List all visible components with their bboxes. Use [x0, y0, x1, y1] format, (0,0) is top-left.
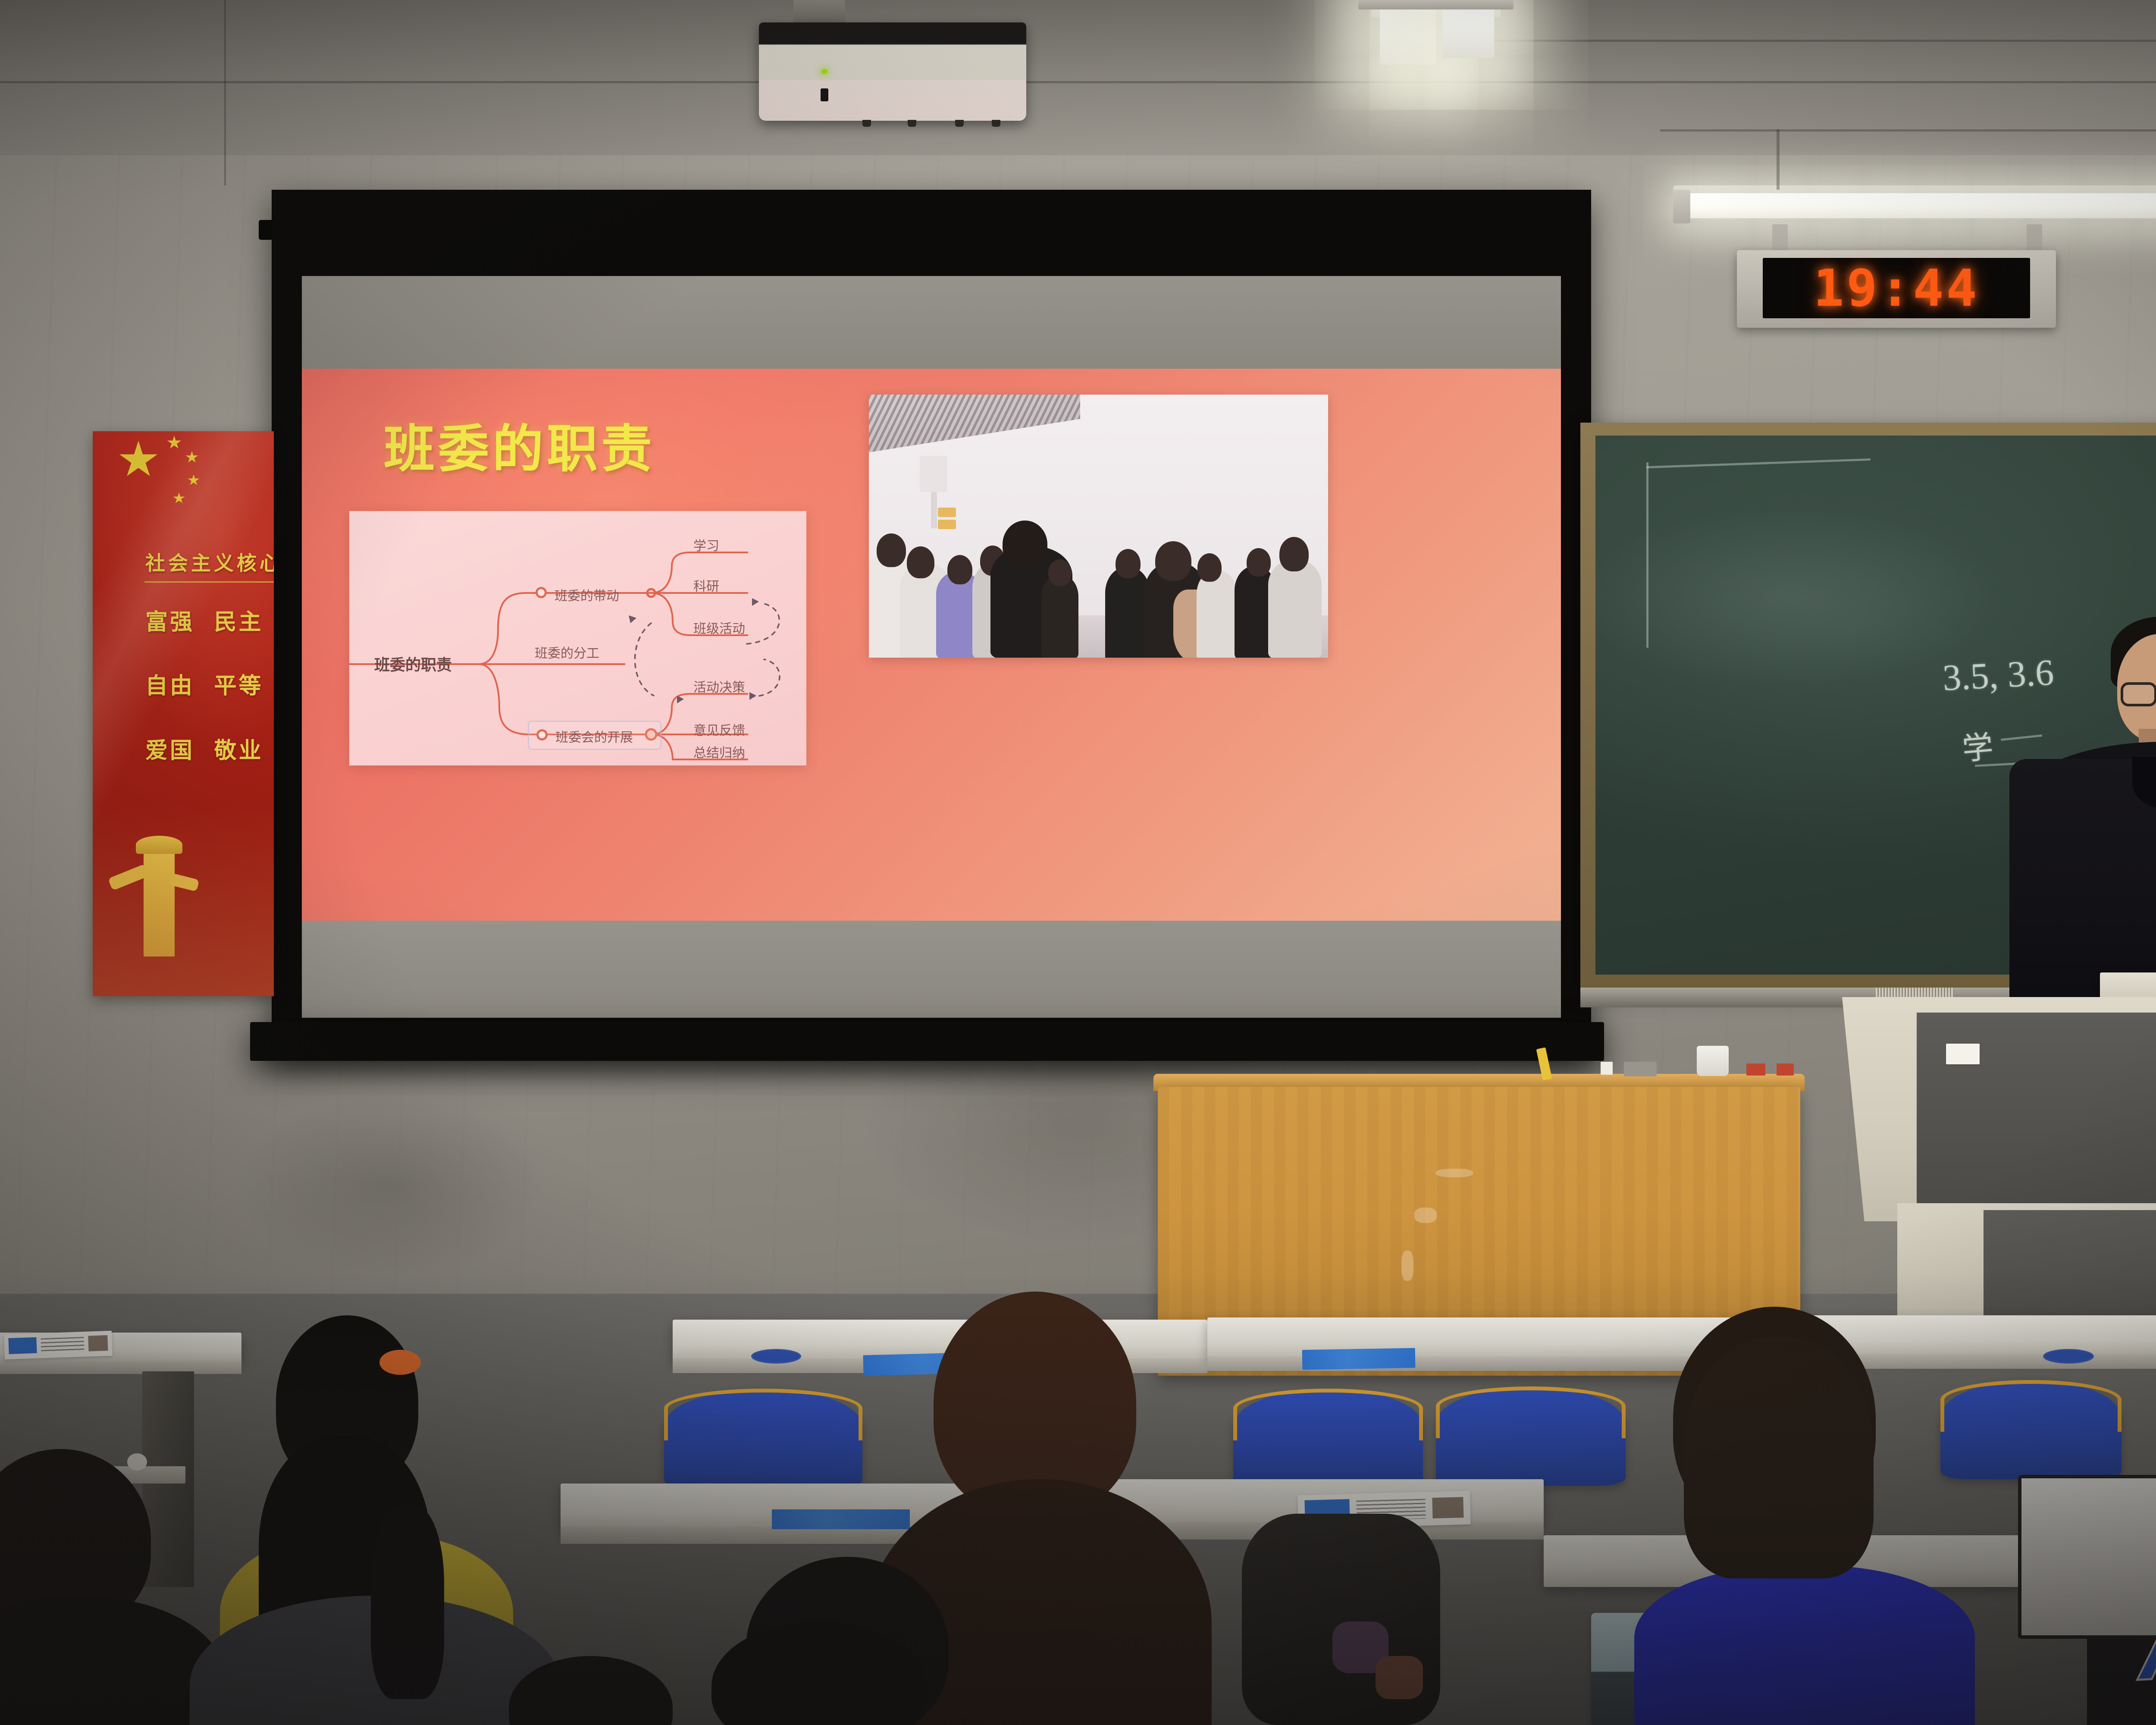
projection-screen-surface: 班委的职责: [302, 276, 1561, 1018]
photo-person-head: [1155, 541, 1191, 581]
flyer-text-lines: [41, 1337, 84, 1353]
mindmap-branch-label: 班委的带动: [555, 585, 619, 604]
desk-sticker-label: [772, 1509, 910, 1529]
wood-scuff: [1414, 1207, 1437, 1223]
photo-person: [1105, 567, 1150, 658]
screen-letterbox-top: [302, 276, 1561, 369]
mindmap-bullet-icon: [536, 729, 548, 740]
photo-wall-sign: [938, 520, 956, 529]
mindmap-leaf-label: 科研: [693, 576, 719, 595]
flyer-thumbnail: [1432, 1497, 1463, 1518]
projector: [759, 22, 1026, 121]
digital-clock-display: 19:44: [1763, 258, 2030, 318]
desk-sticker-oval: [751, 1349, 801, 1364]
photo-person-head: [947, 555, 972, 584]
photo-person-head: [1279, 537, 1309, 571]
projector-foot: [908, 120, 916, 127]
mindmap-panel: 班委的职责 班委的带动 班委的分工 班委会的开展 学习 科研 班级活动 活动决策…: [349, 511, 806, 765]
desk-sticker-label: [1302, 1348, 1416, 1370]
banner-value: 爱国: [145, 738, 194, 763]
light-fixture-endcap-left: [1673, 190, 1690, 223]
presentation-slide: 班委的职责: [302, 369, 1561, 921]
ceiling-seam: [1660, 129, 2156, 132]
banner-value: 富强: [145, 610, 194, 635]
wall-seam-vertical: [224, 0, 226, 185]
desk-flyer-left: [4, 1331, 113, 1360]
mindmap-bullet-icon: [536, 587, 547, 598]
photo-person-head: [877, 533, 906, 567]
ceiling-seam: [1466, 40, 2156, 42]
seat-trim: [1233, 1389, 1423, 1440]
projector-power-led-icon: [821, 69, 827, 74]
clock-time-text: 19:44: [1813, 258, 1979, 318]
red-marker: [1746, 1063, 1765, 1076]
mindmap-branch-label: 班委会的开展: [555, 727, 633, 746]
desk-row-middle-right: [1207, 1317, 1742, 1359]
wood-scuff: [1436, 1169, 1473, 1177]
fluorescent-tube-rear: [1684, 193, 2156, 218]
wood-scuff: [1401, 1251, 1413, 1281]
mindmap-leaf-label: 班级活动: [693, 618, 745, 637]
ceiling: [0, 0, 2156, 155]
screen-mount-tab: [259, 220, 273, 240]
banner-heading: 社会主义核心价值观: [145, 548, 274, 576]
banner-value: 平等: [214, 674, 263, 699]
classroom-scene: 班委的职责: [0, 0, 2156, 1725]
banner-value-row-2: 自由 平等: [145, 668, 263, 700]
backpack-patch: [1376, 1656, 1423, 1699]
banner-value-row-1: 富强 民主: [145, 604, 263, 636]
photo-perforated-ceiling: [869, 395, 1080, 452]
seat-trim: [1436, 1386, 1626, 1438]
photo-person-head: [1247, 548, 1271, 577]
mindmap-root-label: 班委的职责: [374, 652, 452, 675]
slide-title: 班委的职责: [384, 408, 655, 481]
banner-value: 敬业: [214, 738, 263, 763]
blackboard-eraser: [1624, 1062, 1657, 1076]
mindmap-leaf-label: 学习: [693, 535, 719, 554]
photo-person-head: [1116, 549, 1141, 578]
photo-person-head: [907, 546, 934, 578]
projector-ir-sensor-icon: [821, 88, 828, 101]
banner-divider: [144, 581, 274, 583]
ceiling-seam: [0, 81, 2156, 83]
photo-person: [1197, 571, 1237, 658]
chalk-stroke: [1646, 462, 1648, 648]
photo-person-head: [1197, 553, 1222, 582]
presenter-glasses-icon: [2121, 682, 2156, 706]
desk-edge: [1207, 1356, 1742, 1371]
photo-person-head: [1048, 559, 1072, 586]
chalkboard-note-1: 3.5, 3.6: [1942, 650, 2055, 699]
socialist-values-banner: 社会主义核心价值观 富强 民主 自由 平等 爱国 敬业: [93, 431, 274, 996]
banner-value-row-3: 爱国 敬业: [145, 732, 263, 765]
student-blue-hoodie: [1634, 1565, 1975, 1725]
mindmap-branch-label: 班委的分工: [535, 643, 599, 662]
projection-screen-bottom-bar: [250, 1022, 1604, 1061]
tissue-ball: [127, 1453, 147, 1471]
chalk-piece: [1601, 1062, 1613, 1075]
banner-bottom-glow: [93, 804, 274, 996]
desk-sticker-oval: [2043, 1349, 2094, 1364]
light-suspension-rod: [1777, 129, 1780, 190]
desk-edge: [0, 1361, 241, 1374]
photo-wall-box: [920, 456, 947, 492]
flyer-thumbnail: [88, 1335, 108, 1352]
podium-desktop: [2100, 972, 2156, 998]
student-hair-strand: [371, 1505, 444, 1699]
podium-front-panel: [1917, 1013, 2156, 1216]
banner-value: 自由: [145, 674, 194, 699]
banner-value: 民主: [214, 610, 263, 635]
photo-person: [1268, 559, 1322, 658]
photo-wall-sign: [938, 508, 956, 517]
screen-letterbox-bottom: [302, 921, 1561, 1018]
student-head-blue-hoodie-overlay: [1684, 1337, 1874, 1578]
podium-asset-label: [1946, 1044, 1980, 1064]
seat-trim: [664, 1389, 862, 1440]
laptop[interactable]: [2018, 1475, 2156, 1639]
photo-person: [1041, 575, 1078, 658]
fluorescent-tube-left: [1380, 0, 1436, 65]
red-marker: [1777, 1063, 1794, 1076]
photo-person-head: [1003, 521, 1047, 568]
mindmap-leaf-label: 活动决策: [693, 677, 745, 696]
projector-foot: [862, 120, 871, 127]
projector-ceiling-mount: [793, 0, 845, 25]
chalkboard-sub-note: 学: [1960, 721, 1995, 769]
mindmap-leaf-label: 意见反馈: [693, 720, 745, 739]
hair-tie-icon: [379, 1350, 421, 1375]
light-fixture-rail: [1358, 0, 1514, 9]
seat-trim: [1940, 1380, 2122, 1432]
projector-foot: [955, 120, 964, 127]
mindmap-leaf-label: 总结归纳: [693, 742, 745, 761]
projector-foot: [992, 120, 1000, 127]
white-cup: [1697, 1046, 1729, 1076]
photo-wall-pipe: [931, 492, 937, 528]
flyer-accent: [8, 1337, 37, 1354]
slide-embedded-photo: [869, 395, 1328, 658]
